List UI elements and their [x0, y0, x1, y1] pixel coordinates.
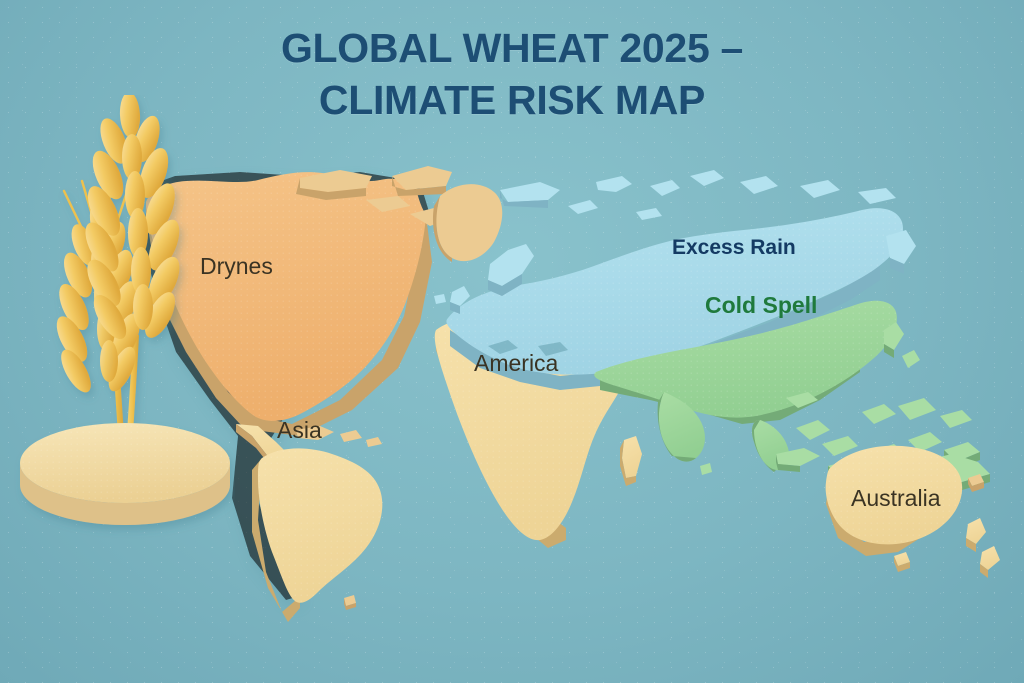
wheat-group — [20, 95, 230, 525]
page-title: GLOBAL WHEAT 2025 – CLIMATE RISK MAP — [0, 22, 1024, 126]
wheat-stalks-illustration — [10, 95, 235, 545]
poster-canvas: Drynes Asia America Excess Rain Cold Spe… — [0, 0, 1024, 683]
wheat-base-disc — [20, 423, 230, 525]
title-line-1: GLOBAL WHEAT 2025 – — [281, 25, 743, 71]
title-line-2: CLIMATE RISK MAP — [0, 74, 1024, 126]
legend: Dryness Neutral Excess Rain Neutral Mild — [0, 538, 1024, 648]
